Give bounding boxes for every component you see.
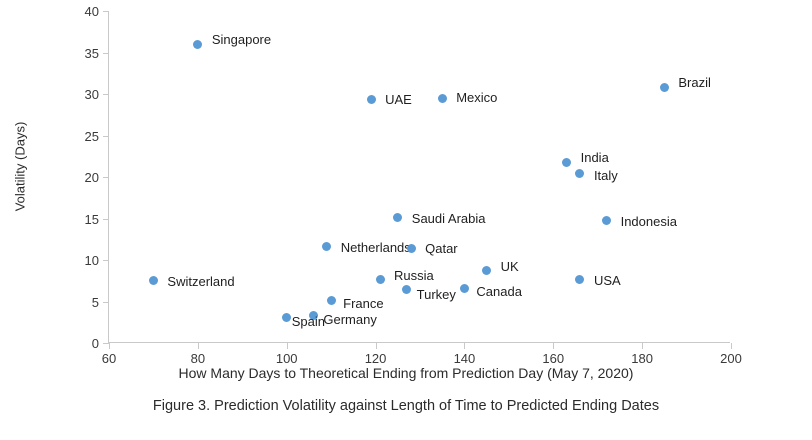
data-point-label: Saudi Arabia — [412, 212, 486, 225]
x-axis-tick-label: 140 — [439, 352, 489, 365]
data-point[interactable] — [562, 158, 571, 167]
data-point[interactable] — [402, 285, 411, 294]
x-axis-tick — [376, 343, 377, 349]
data-point-label: Russia — [394, 269, 434, 282]
data-point-label: UAE — [385, 93, 412, 106]
x-axis-tick-label: 100 — [262, 352, 312, 365]
x-axis-tick — [109, 343, 110, 349]
x-axis-tick — [553, 343, 554, 349]
data-point-label: UK — [501, 260, 519, 273]
data-point[interactable] — [482, 266, 491, 275]
data-point[interactable] — [602, 216, 611, 225]
y-axis-tick — [103, 11, 109, 12]
data-point-label: Netherlands — [341, 241, 411, 254]
data-point-label: Turkey — [417, 288, 456, 301]
data-point-label: India — [581, 151, 609, 164]
y-axis-title-text: Volatility (Days) — [13, 121, 28, 211]
y-axis-tick-label: 35 — [63, 47, 99, 60]
data-point[interactable] — [367, 95, 376, 104]
plot-area: 0510152025303540 6080100120140160180200 … — [108, 11, 730, 343]
data-point-label: Mexico — [456, 91, 497, 104]
data-point-label: Germany — [323, 313, 376, 326]
x-axis-tick-label: 160 — [528, 352, 578, 365]
data-point[interactable] — [407, 244, 416, 253]
data-point[interactable] — [393, 213, 402, 222]
y-axis-tick — [103, 94, 109, 95]
data-point-label: USA — [594, 274, 621, 287]
data-point[interactable] — [376, 275, 385, 284]
data-point[interactable] — [575, 169, 584, 178]
data-point-label: Canada — [476, 285, 522, 298]
y-axis-tick — [103, 177, 109, 178]
x-axis-tick-label: 60 — [84, 352, 134, 365]
data-point-label: Singapore — [212, 33, 271, 46]
x-axis-tick-label: 200 — [706, 352, 756, 365]
data-point[interactable] — [575, 275, 584, 284]
x-axis-tick-label: 120 — [351, 352, 401, 365]
y-axis-tick-label: 20 — [63, 171, 99, 184]
data-point-label: Italy — [594, 169, 618, 182]
x-axis-title: How Many Days to Theoretical Ending from… — [0, 365, 812, 381]
data-point[interactable] — [660, 83, 669, 92]
y-axis-tick — [103, 136, 109, 137]
y-axis-tick-label: 15 — [63, 213, 99, 226]
y-axis-tick-label: 30 — [63, 88, 99, 101]
y-axis-tick — [103, 260, 109, 261]
y-axis-tick-label: 40 — [63, 5, 99, 18]
data-point[interactable] — [149, 276, 158, 285]
data-point-label: Indonesia — [621, 215, 677, 228]
data-point[interactable] — [282, 313, 291, 322]
y-axis-tick-label: 10 — [63, 254, 99, 267]
y-axis-tick — [103, 219, 109, 220]
data-point-label: France — [343, 297, 383, 310]
data-point-label: Switzerland — [167, 275, 234, 288]
y-axis-tick-label: 25 — [63, 130, 99, 143]
x-axis-tick-label: 80 — [173, 352, 223, 365]
x-axis-tick-label: 180 — [617, 352, 667, 365]
y-axis-title: Volatility (Days) — [10, 0, 30, 332]
scatter-chart-figure: Volatility (Days) 0510152025303540 60801… — [0, 0, 812, 440]
x-axis-tick — [642, 343, 643, 349]
y-axis-tick-label: 5 — [63, 296, 99, 309]
figure-caption: Figure 3. Prediction Volatility against … — [0, 398, 812, 414]
data-point[interactable] — [322, 242, 331, 251]
y-axis-tick — [103, 53, 109, 54]
x-axis-tick — [198, 343, 199, 349]
data-point[interactable] — [460, 284, 469, 293]
data-point[interactable] — [193, 40, 202, 49]
data-point-label: Spain — [292, 315, 325, 328]
x-axis-tick — [464, 343, 465, 349]
y-axis-tick-label: 0 — [63, 337, 99, 350]
data-point[interactable] — [327, 296, 336, 305]
x-axis-tick — [287, 343, 288, 349]
y-axis-tick — [103, 302, 109, 303]
x-axis-tick — [731, 343, 732, 349]
data-point-label: Qatar — [425, 242, 458, 255]
data-point-label: Brazil — [678, 76, 711, 89]
data-point[interactable] — [438, 94, 447, 103]
